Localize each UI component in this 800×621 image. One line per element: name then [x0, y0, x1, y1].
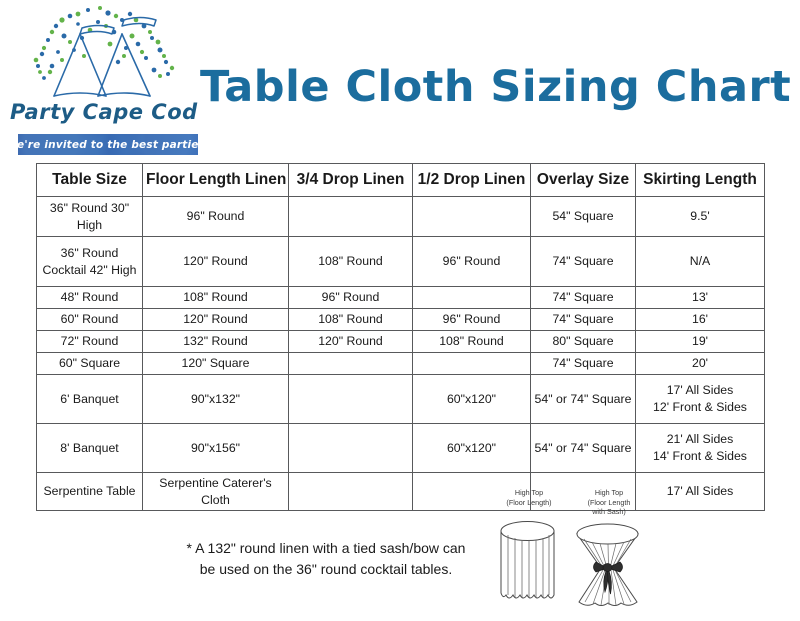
footnote-line-2: be used on the 36" round cocktail tables… — [150, 559, 502, 580]
cell-three-quarter: 108" Round — [289, 237, 413, 287]
cell-floor-length: 120" Round — [143, 309, 289, 331]
cell-skirting: 16' — [636, 309, 765, 331]
cell-overlay: 74" Square — [531, 353, 636, 375]
cell-table-size: 60" Round — [37, 309, 143, 331]
illustration-high-top-floor-length: High Top (Floor Length) — [487, 488, 571, 616]
table-row: 36" Round Cocktail 42" High 120" Round 1… — [37, 237, 765, 287]
column-header-skirting: Skirting Length — [636, 164, 765, 197]
table-row: 8' Banquet 90"x156" 60"x120" 54" or 74" … — [37, 424, 765, 473]
cell-overlay: 74" Square — [531, 309, 636, 331]
cell-overlay: 54" or 74" Square — [531, 375, 636, 424]
cell-three-quarter — [289, 375, 413, 424]
cell-three-quarter — [289, 353, 413, 375]
cell-floor-length: 120" Square — [143, 353, 289, 375]
logo-wordmark: Party Cape Cod — [10, 100, 195, 124]
cell-table-size: 8' Banquet — [37, 424, 143, 473]
table-row: 72" Round 132" Round 120" Round 108" Rou… — [37, 331, 765, 353]
cell-table-size: 48" Round — [37, 287, 143, 309]
cell-floor-length: 90"x156" — [143, 424, 289, 473]
illustration-caption: High Top (Floor Length with Sash) — [567, 488, 651, 517]
cell-overlay: 54" Square — [531, 197, 636, 237]
cell-half-drop — [413, 353, 531, 375]
cell-floor-length: 120" Round — [143, 237, 289, 287]
cell-half-drop — [413, 287, 531, 309]
cell-three-quarter: 96" Round — [289, 287, 413, 309]
cell-floor-length: Serpentine Caterer's Cloth — [143, 473, 289, 511]
cell-overlay: 74" Square — [531, 287, 636, 309]
cell-half-drop — [413, 197, 531, 237]
table-row: 60" Square 120" Square 74" Square 20' — [37, 353, 765, 375]
cell-floor-length: 90"x132" — [143, 375, 289, 424]
cell-skirting: 21' All Sides14' Front & Sides — [636, 424, 765, 473]
column-header-floor-length: Floor Length Linen — [143, 164, 289, 197]
table-row: 36" Round 30" High 96" Round 54" Square … — [37, 197, 765, 237]
illustration-caption: High Top (Floor Length) — [487, 488, 571, 507]
cell-half-drop: 60"x120" — [413, 375, 531, 424]
sizing-table: Table Size Floor Length Linen 3/4 Drop L… — [36, 163, 765, 511]
brand-logo: Party Cape Cod We're invited to the best… — [10, 4, 195, 156]
cell-overlay: 80" Square — [531, 331, 636, 353]
cell-half-drop: 96" Round — [413, 237, 531, 287]
cell-three-quarter — [289, 424, 413, 473]
column-header-overlay: Overlay Size — [531, 164, 636, 197]
cell-skirting: 20' — [636, 353, 765, 375]
cell-table-size: 36" Round 30" High — [37, 197, 143, 237]
column-header-three-quarter: 3/4 Drop Linen — [289, 164, 413, 197]
high-top-with-sash-icon — [567, 518, 651, 616]
caption-line-2: (Floor Length) — [487, 498, 571, 508]
tagline-text: We're invited to the best parties! — [6, 139, 210, 151]
table-row: 48" Round 108" Round 96" Round 74" Squar… — [37, 287, 765, 309]
cell-half-drop: 60"x120" — [413, 424, 531, 473]
cell-floor-length: 108" Round — [143, 287, 289, 309]
tent-logo-icon — [18, 4, 188, 109]
high-top-floor-length-icon — [487, 513, 571, 613]
column-header-half-drop: 1/2 Drop Linen — [413, 164, 531, 197]
cell-three-quarter — [289, 197, 413, 237]
cell-table-size: 72" Round — [37, 331, 143, 353]
illustration-high-top-with-sash: High Top (Floor Length with Sash) — [567, 488, 651, 616]
cell-table-size: 60" Square — [37, 353, 143, 375]
cell-skirting: N/A — [636, 237, 765, 287]
caption-line-2: (Floor Length — [567, 498, 651, 508]
cell-skirting: 19' — [636, 331, 765, 353]
table-row: 6' Banquet 90"x132" 60"x120" 54" or 74" … — [37, 375, 765, 424]
cell-skirting: 9.5' — [636, 197, 765, 237]
cell-overlay: 54" or 74" Square — [531, 424, 636, 473]
tagline-banner: We're invited to the best parties! — [18, 134, 198, 155]
page-title: Table Cloth Sizing Chart — [200, 62, 775, 112]
cell-three-quarter: 108" Round — [289, 309, 413, 331]
cell-half-drop: 96" Round — [413, 309, 531, 331]
cell-floor-length: 132" Round — [143, 331, 289, 353]
cell-overlay: 74" Square — [531, 237, 636, 287]
column-header-table-size: Table Size — [37, 164, 143, 197]
cell-table-size: 6' Banquet — [37, 375, 143, 424]
caption-line-3: with Sash) — [567, 507, 651, 517]
cell-skirting: 13' — [636, 287, 765, 309]
cell-three-quarter: 120" Round — [289, 331, 413, 353]
illustrations-group: High Top (Floor Length) — [487, 488, 657, 616]
caption-line-1: High Top — [567, 488, 651, 498]
cell-skirting: 17' All Sides12' Front & Sides — [636, 375, 765, 424]
footnote-line-1: * A 132" round linen with a tied sash/bo… — [150, 538, 502, 559]
footnote: * A 132" round linen with a tied sash/bo… — [150, 538, 502, 580]
cell-half-drop: 108" Round — [413, 331, 531, 353]
cell-three-quarter — [289, 473, 413, 511]
cell-floor-length: 96" Round — [143, 197, 289, 237]
table-row: 60" Round 120" Round 108" Round 96" Roun… — [37, 309, 765, 331]
caption-line-1: High Top — [487, 488, 571, 498]
cell-table-size: 36" Round Cocktail 42" High — [37, 237, 143, 287]
table-header-row: Table Size Floor Length Linen 3/4 Drop L… — [37, 164, 765, 197]
cell-table-size: Serpentine Table — [37, 473, 143, 511]
page-header: Party Cape Cod We're invited to the best… — [0, 0, 800, 160]
